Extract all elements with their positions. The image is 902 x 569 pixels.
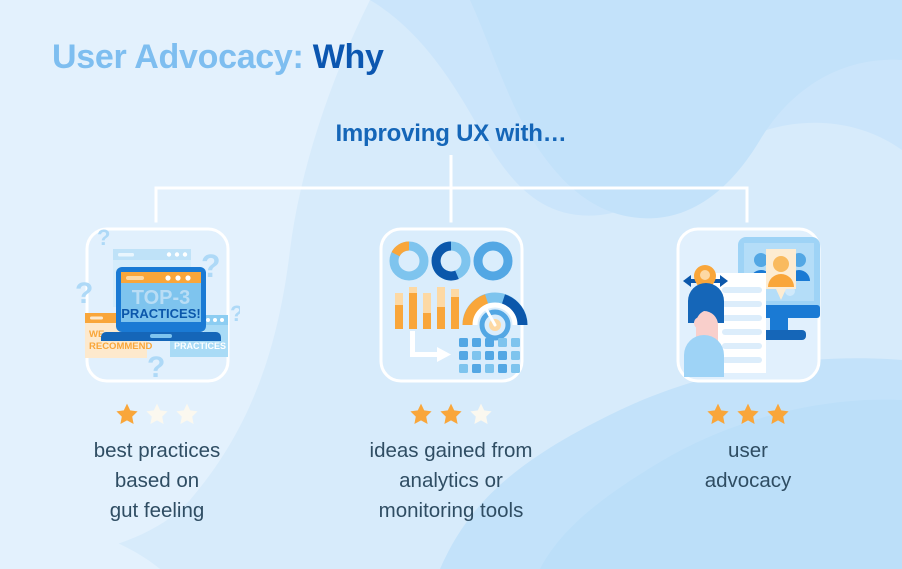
star-filled-icon — [766, 402, 790, 426]
star-empty-icon — [175, 402, 199, 426]
star-empty-icon — [145, 402, 169, 426]
person-researcher — [683, 265, 728, 377]
star-filled-icon — [736, 402, 760, 426]
question-mark-icon: ? — [97, 225, 110, 250]
column-analytics-ideas: ideas gained from analytics or monitorin… — [300, 225, 602, 526]
question-mark-icon: ? — [147, 351, 165, 384]
question-mark-icon: ? — [75, 277, 93, 310]
illustration-laptop-top-3-practices: ? ? ? ? ? THE BEST — [75, 225, 240, 385]
star-filled-icon — [115, 402, 139, 426]
rating-stars — [706, 401, 790, 427]
laptop-graphic: TOP-3 PRACTICES! — [101, 267, 221, 341]
star-filled-icon — [409, 402, 433, 426]
rating-stars — [115, 401, 199, 427]
column-caption: ideas gained from analytics or monitorin… — [370, 436, 533, 526]
connector-tree — [0, 155, 902, 225]
page-subtitle: Improving UX with… — [0, 120, 902, 148]
svg-text:RECOMMEND: RECOMMEND — [89, 341, 152, 352]
illustration-user-research-people — [666, 225, 831, 385]
column-caption: best practices based on gut feeling — [94, 436, 220, 526]
page-title-emphasis: Why — [313, 38, 384, 76]
star-filled-icon — [439, 402, 463, 426]
page-title: User Advocacy: Why — [52, 38, 384, 77]
star-filled-icon — [706, 402, 730, 426]
illustration-analytics-dashboard — [369, 225, 534, 385]
column-user-advocacy: user advocacy — [597, 225, 899, 496]
column-best-practices: ? ? ? ? ? THE BEST — [6, 225, 308, 526]
laptop-text-practices: PRACTICES! — [121, 306, 200, 321]
column-caption: user advocacy — [705, 436, 792, 496]
svg-text:PRACTICES: PRACTICES — [174, 341, 226, 351]
page-title-light: User Advocacy: — [52, 38, 304, 76]
question-mark-icon: ? — [230, 301, 240, 326]
star-empty-icon — [469, 402, 493, 426]
rating-stars — [409, 401, 493, 427]
slide-canvas: User Advocacy: Why Improving UX with… ? … — [0, 0, 902, 569]
